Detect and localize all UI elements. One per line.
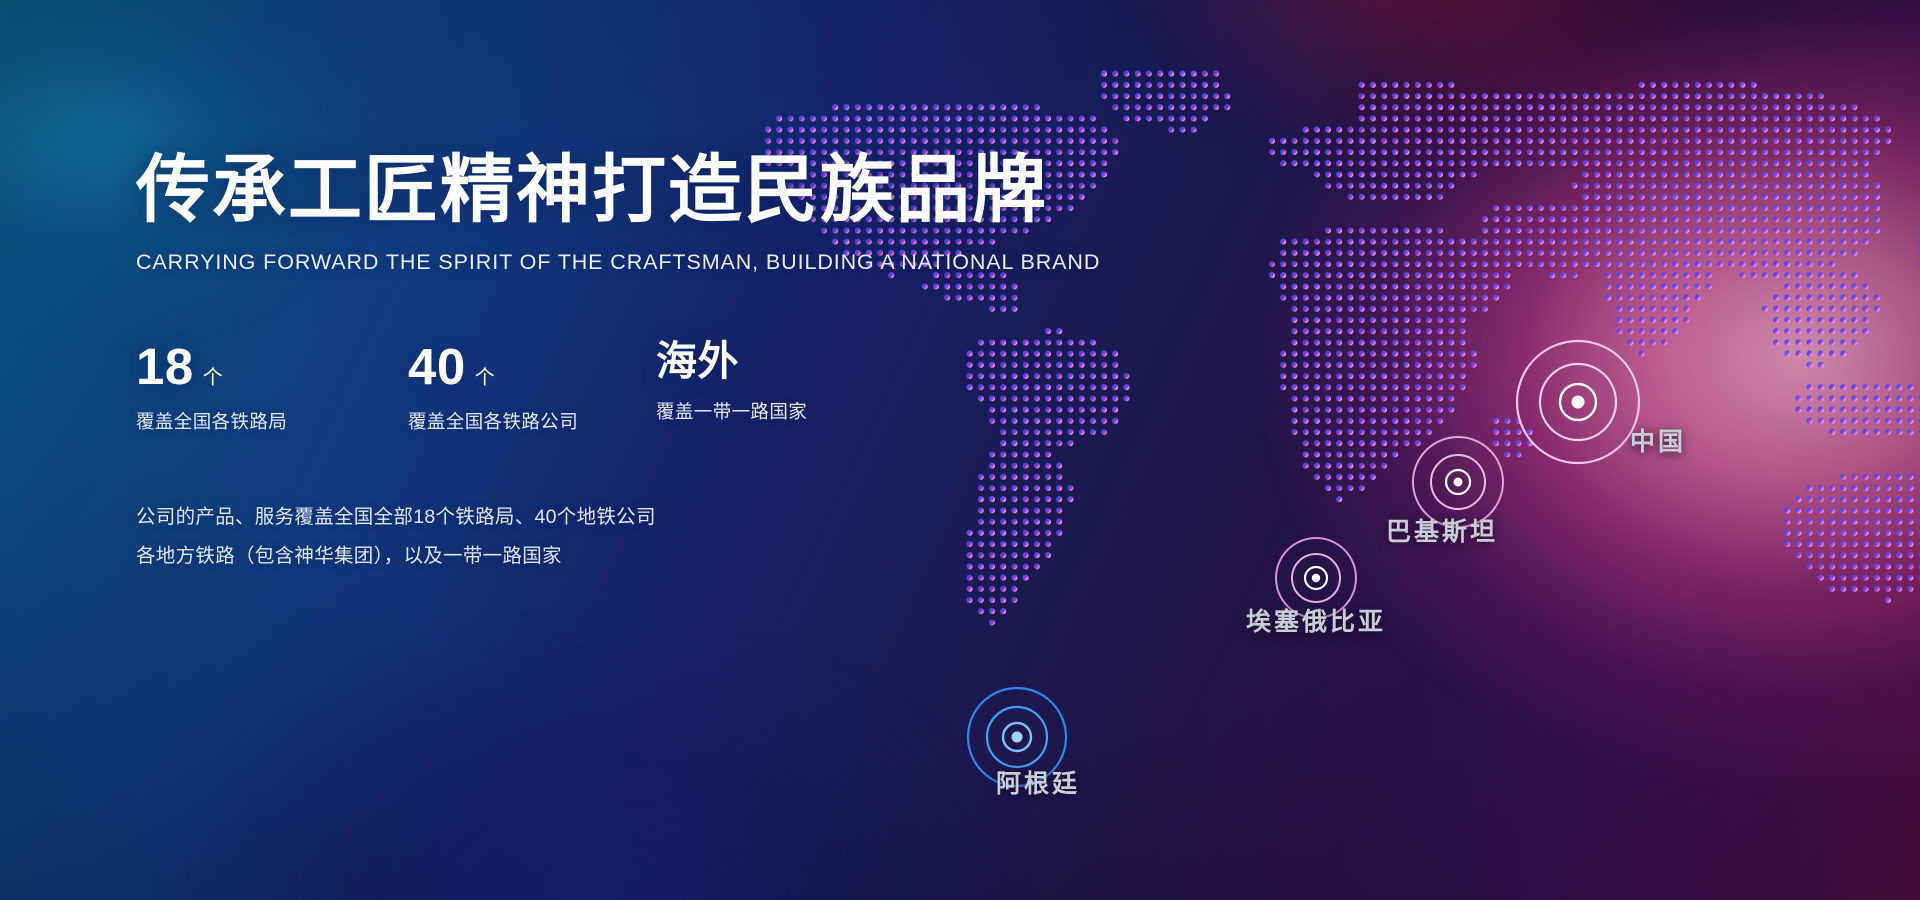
- banner-stage: 中国 巴基斯坦 埃塞俄比亚 阿根廷 传承工匠精神打造民族品: [0, 0, 1920, 900]
- map-marker-label-china: 中国: [1630, 422, 1686, 458]
- page-subtitle: CARRYING FORWARD THE SPIRIT OF THE CRAFT…: [136, 250, 1036, 275]
- stats-row: 18 个 覆盖全国各铁路局 40 个 覆盖全国各铁路公司 海外 覆盖一带一路国家: [136, 341, 1036, 434]
- stat-item-railway-companies: 40 个 覆盖全国各铁路公司: [408, 341, 656, 434]
- map-marker-label-pakistan: 巴基斯坦: [1386, 512, 1498, 548]
- stat-number: 40: [408, 341, 466, 392]
- stat-item-overseas: 海外 覆盖一带一路国家: [656, 341, 896, 434]
- description-line-1: 公司的产品、服务覆盖全国全部18个铁路局、40个地铁公司: [136, 498, 1036, 537]
- stat-item-railway-bureaus: 18 个 覆盖全国各铁路局: [136, 341, 408, 434]
- stat-value-row: 海外: [656, 341, 896, 382]
- stat-description: 覆盖全国各铁路公司: [408, 408, 656, 434]
- stat-value-row: 18 个: [136, 341, 408, 392]
- ring-pulse-icon: [1498, 322, 1658, 482]
- stat-unit: 个: [203, 361, 223, 390]
- stat-number: 18: [136, 341, 194, 392]
- stat-number: 海外: [656, 341, 739, 382]
- page-title: 传承工匠精神打造民族品牌: [136, 150, 1036, 230]
- map-marker-label-argentina: 阿根廷: [996, 764, 1080, 800]
- description-line-2: 各地方铁路（包含神华集团），以及一带一路国家: [136, 537, 1036, 576]
- stat-value-row: 40 个: [408, 341, 656, 392]
- map-marker-label-ethiopia: 埃塞俄比亚: [1246, 602, 1386, 638]
- content-block: 传承工匠精神打造民族品牌 CARRYING FORWARD THE SPIRIT…: [136, 150, 1036, 576]
- description-block: 公司的产品、服务覆盖全国全部18个铁路局、40个地铁公司 各地方铁路（包含神华集…: [136, 498, 1036, 576]
- stat-description: 覆盖全国各铁路局: [136, 408, 408, 434]
- stat-description: 覆盖一带一路国家: [656, 398, 896, 424]
- stat-unit: 个: [475, 361, 495, 390]
